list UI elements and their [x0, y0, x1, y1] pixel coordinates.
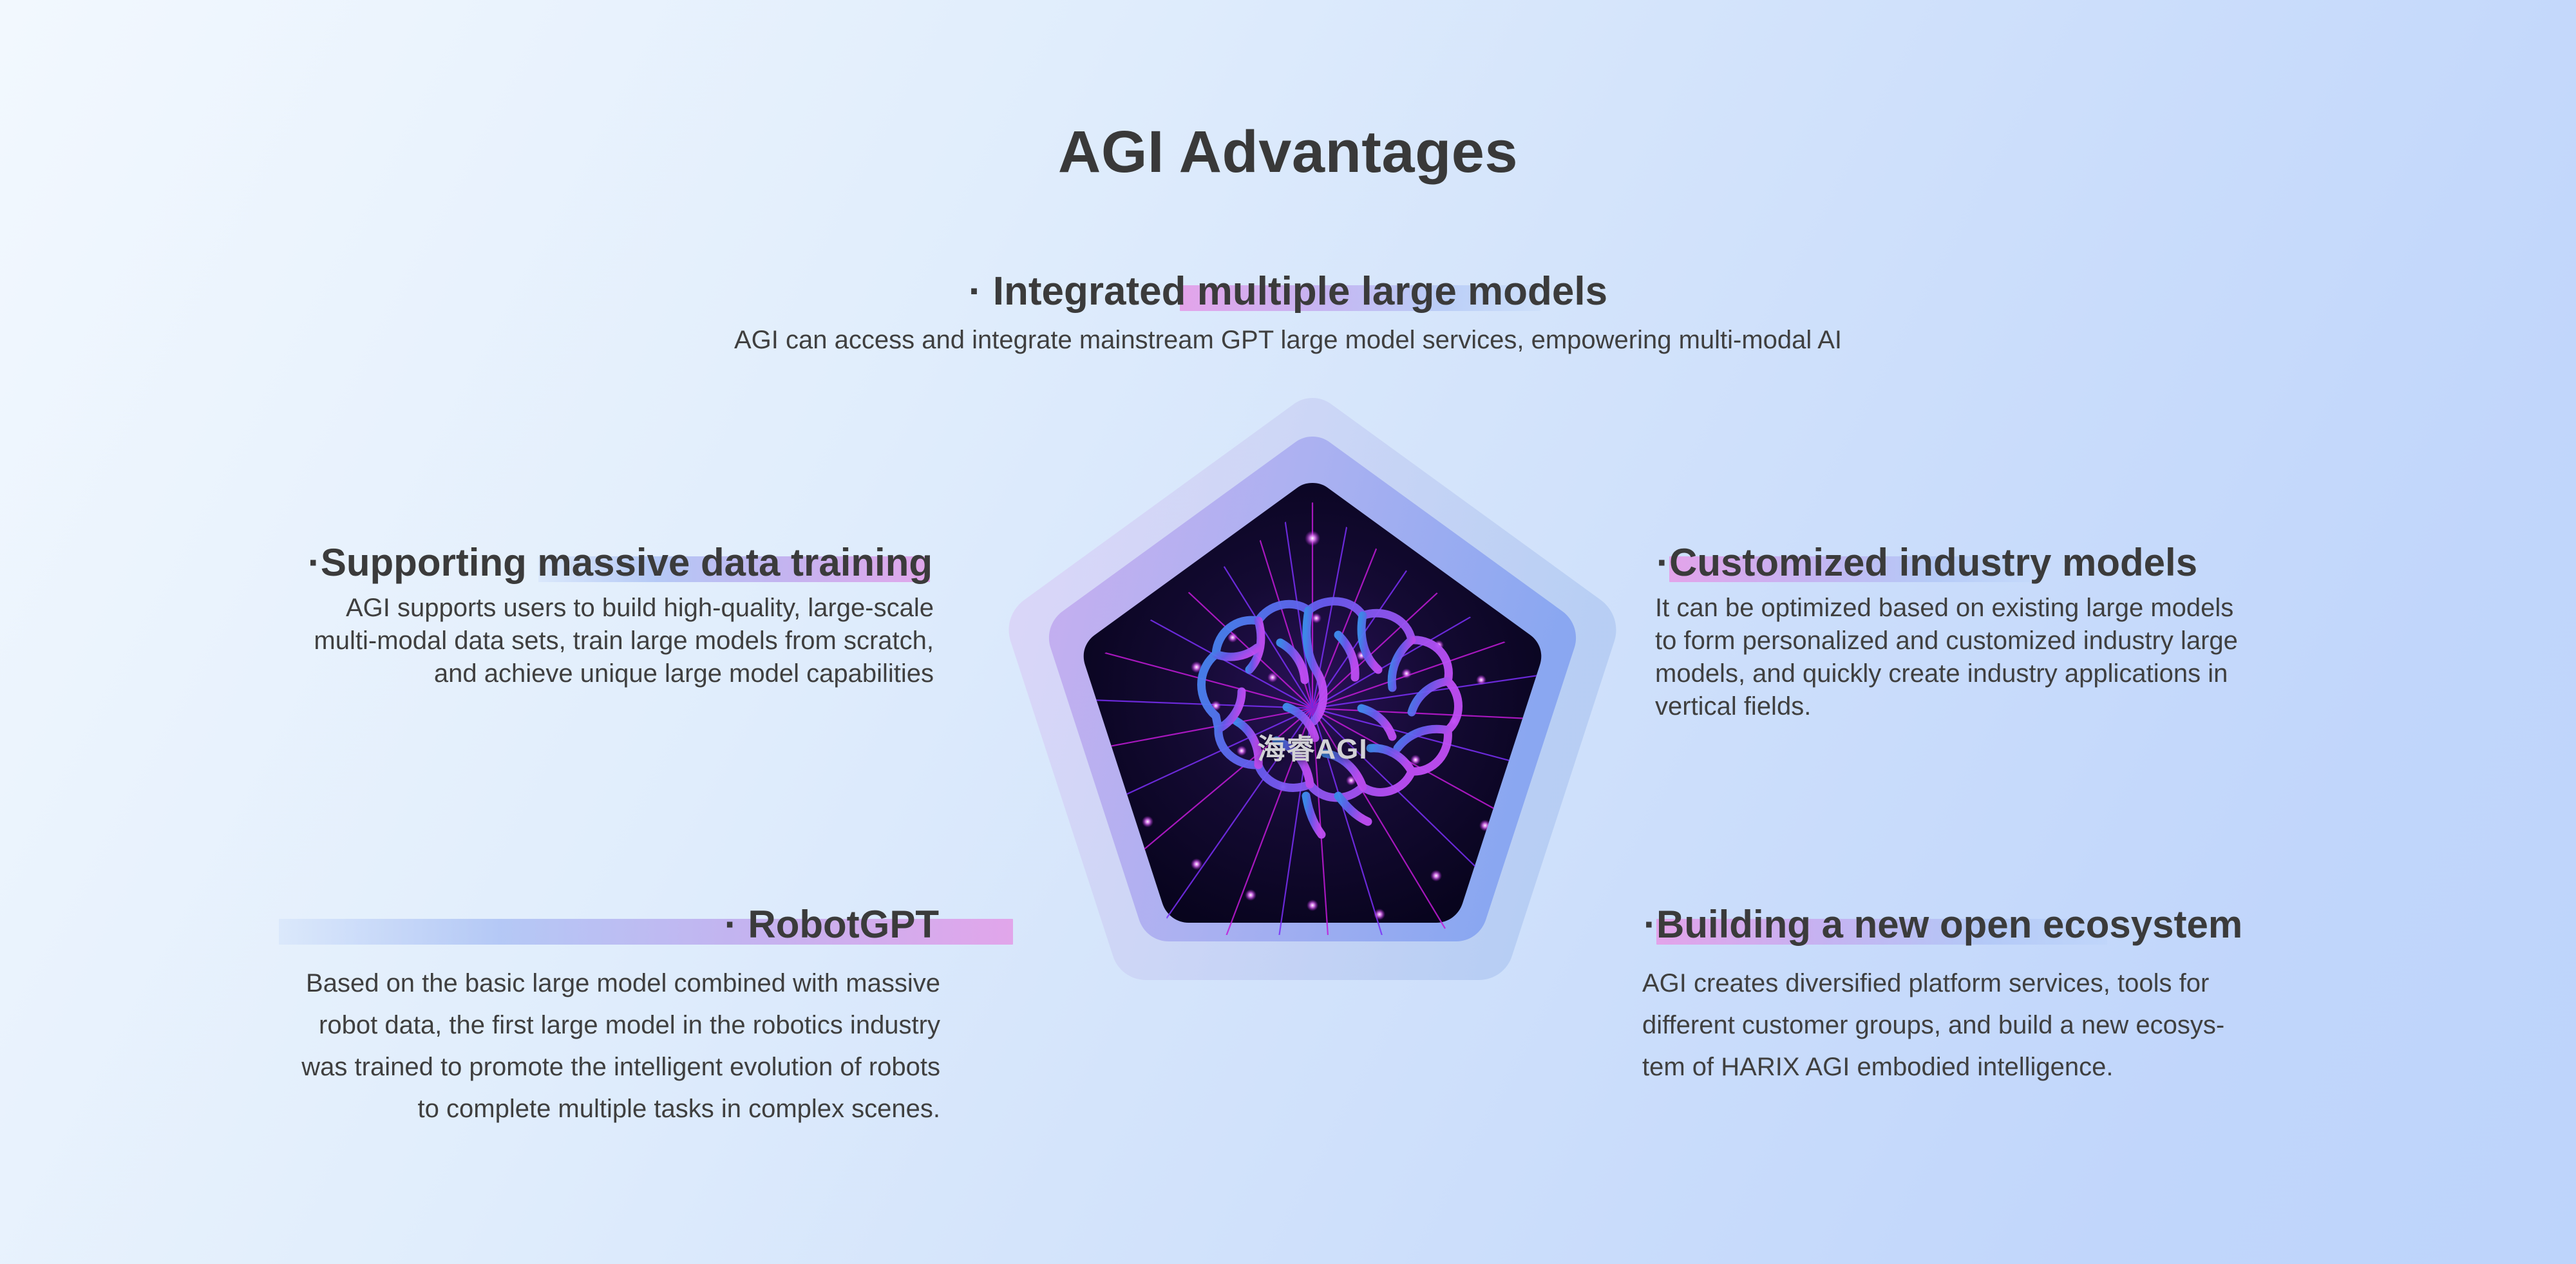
section-top-body: AGI can access and integrate mainstream … [0, 324, 2576, 357]
section-left-lower-heading-text: RobotGPT [748, 903, 939, 946]
bullet-dot: · [1656, 541, 1669, 584]
section-integrated-multiple-large-models: · Integrated multiple large models AGI c… [0, 269, 2576, 357]
body-line: It can be optimized based on existing la… [1655, 592, 2544, 625]
section-right-upper-heading-text: Customized industry models [1669, 541, 2197, 584]
section-robotgpt: · RobotGPT Based on the basic large mode… [39, 903, 940, 1129]
body-line: vertical fields. [1655, 690, 2544, 723]
body-line: and achieve unique large model capabilit… [39, 657, 934, 690]
bullet-dot: · [1643, 903, 1656, 946]
section-left-upper-heading: ·Supporting massive data training [307, 541, 934, 584]
section-left-upper-heading-text: Supporting massive data training [321, 541, 933, 584]
section-right-lower-heading: ·Building a new open ecosystem [1642, 903, 2244, 946]
page-title: AGI Advantages [0, 120, 2576, 185]
body-line: was trained to promote the intelligent e… [39, 1046, 940, 1088]
body-line: multi-modal data sets, train large model… [39, 625, 934, 657]
body-line: different customer groups, and build a n… [1642, 1005, 2544, 1046]
body-line: to form personalized and customized indu… [1655, 625, 2544, 657]
section-top-heading: · Integrated multiple large models [967, 269, 1609, 314]
section-right-lower-body: AGI creates diversified platform service… [1642, 963, 2544, 1088]
section-left-upper-body: AGI supports users to build high-quality… [39, 592, 934, 690]
body-line: AGI supports users to build high-quality… [39, 592, 934, 625]
body-line: robot data, the first large model in the… [39, 1005, 940, 1046]
section-building-a-new-open-ecosystem: ·Building a new open ecosystem AGI creat… [1642, 903, 2544, 1088]
section-right-lower-heading-text: Building a new open ecosystem [1656, 903, 2242, 946]
body-line: to complete multiple tasks in complex sc… [39, 1088, 940, 1130]
bullet-dot: · [969, 269, 982, 314]
section-left-lower-body: Based on the basic large model combined … [39, 963, 940, 1129]
section-supporting-massive-data-training: ·Supporting massive data training AGI su… [39, 541, 934, 690]
section-left-lower-heading: · RobotGPT [723, 903, 940, 946]
bullet-dot: · [308, 541, 321, 584]
body-line: AGI creates diversified platform service… [1642, 963, 2544, 1005]
section-top-heading-text: Integrated multiple large models [993, 269, 1607, 314]
section-customized-industry-models: ·Customized industry models It can be op… [1655, 541, 2544, 722]
body-line: Based on the basic large model combined … [39, 963, 940, 1005]
body-line: models, and quickly create industry appl… [1655, 657, 2544, 690]
section-right-upper-body: It can be optimized based on existing la… [1655, 592, 2544, 722]
body-line: tem of HARIX AGI embodied intelligence. [1642, 1046, 2544, 1088]
pentagon-brain-emblem: 海睿AGI [1003, 386, 1622, 1095]
bullet-dot: · [724, 903, 737, 946]
section-right-upper-heading: ·Customized industry models [1655, 541, 2199, 584]
